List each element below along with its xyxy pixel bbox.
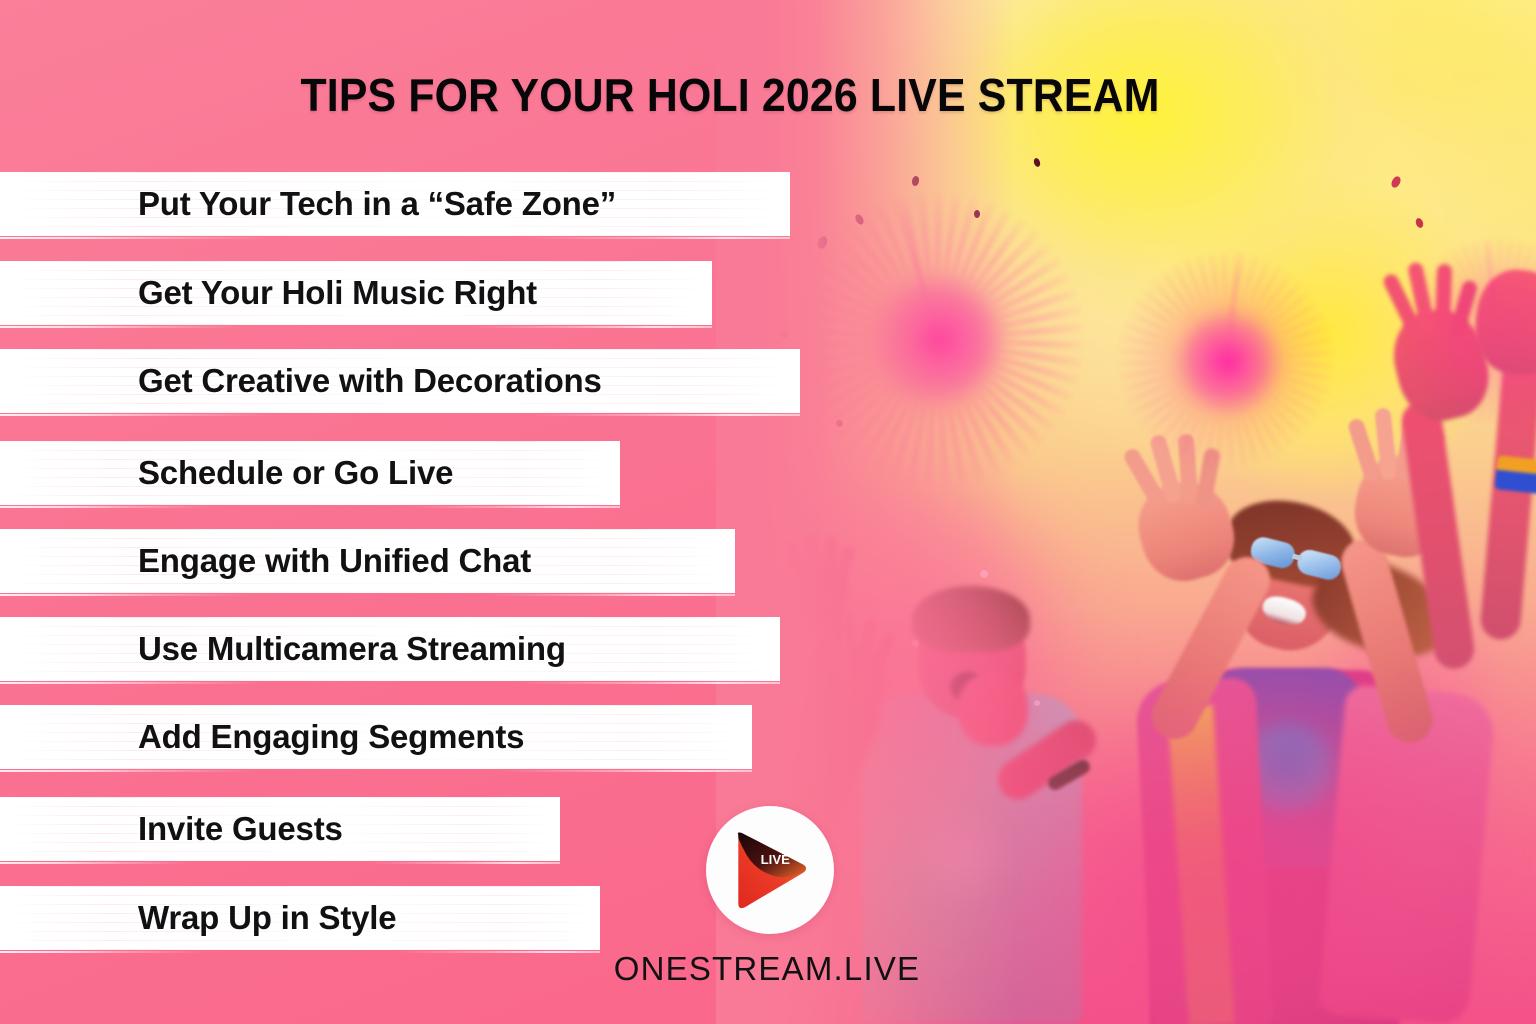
play-triangle-icon: LIVE <box>726 826 814 914</box>
brand-name-text: ONESTREAM.LIVE <box>614 950 921 988</box>
tip-label: Engage with Unified Chat <box>138 542 531 580</box>
tip-item-3[interactable]: Get Creative with Decorations <box>0 349 602 413</box>
tip-item-9[interactable]: Wrap Up in Style <box>0 886 396 950</box>
powder-burst-right-core <box>1174 308 1282 416</box>
tip-label: Use Multicamera Streaming <box>138 630 566 668</box>
tip-item-6[interactable]: Use Multicamera Streaming <box>0 617 566 681</box>
tip-item-7[interactable]: Add Engaging Segments <box>0 705 524 769</box>
page-title: TIPS FOR YOUR HOLI 2026 LIVE STREAM <box>51 68 1409 122</box>
tip-item-5[interactable]: Engage with Unified Chat <box>0 529 531 593</box>
tip-label: Wrap Up in Style <box>138 899 396 937</box>
tip-label: Put Your Tech in a “Safe Zone” <box>138 185 616 223</box>
tip-item-8[interactable]: Invite Guests <box>0 797 343 861</box>
tip-label: Get Your Holi Music Right <box>138 274 537 312</box>
tip-item-2[interactable]: Get Your Holi Music Right <box>0 261 537 325</box>
brand-name: ONESTREAM.LIVE <box>0 950 1536 988</box>
tip-label: Invite Guests <box>138 810 343 848</box>
holi-celebration-photo <box>716 0 1536 1024</box>
tip-label: Get Creative with Decorations <box>138 362 602 400</box>
poster-canvas: TIPS FOR YOUR HOLI 2026 LIVE STREAM Put … <box>0 0 1536 1024</box>
tip-item-1[interactable]: Put Your Tech in a “Safe Zone” <box>0 172 616 236</box>
onestream-logo[interactable]: LIVE <box>706 806 834 934</box>
tip-label: Add Engaging Segments <box>138 718 524 756</box>
tip-label: Schedule or Go Live <box>138 454 453 492</box>
logo-live-text: LIVE <box>761 852 791 867</box>
tip-item-4[interactable]: Schedule or Go Live <box>0 441 453 505</box>
